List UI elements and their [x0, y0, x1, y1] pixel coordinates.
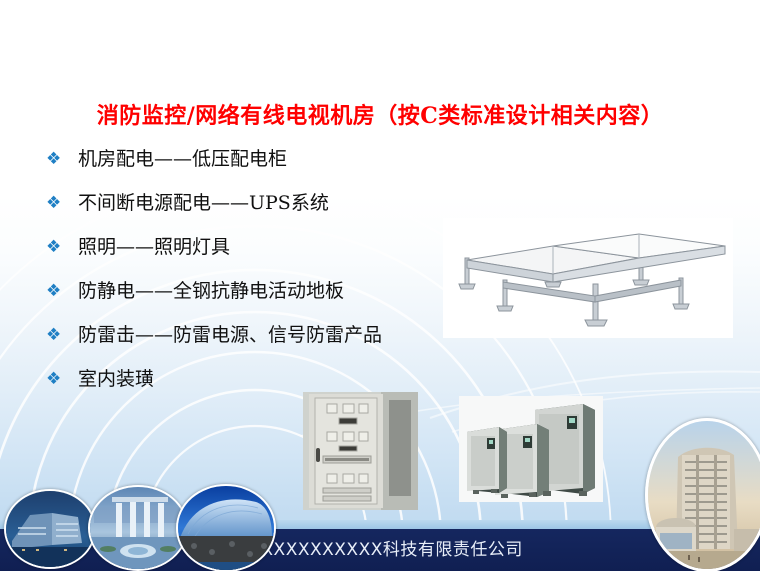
low-voltage-distribution-cabinet-photo — [303, 392, 418, 510]
diamond-bullet-icon: ❖ — [46, 364, 78, 394]
slide-title-text: 消防监控/网络有线电视机房（按C类标准设计相关内容） — [97, 103, 664, 129]
ups-cabinets-photo — [459, 396, 603, 502]
list-item-label: 防雷击——防雷电源、信号防雷产品 — [78, 320, 382, 350]
list-item-label: 照明——照明灯具 — [78, 232, 230, 262]
slide-title: 消防监控/网络有线电视机房（按C类标准设计相关内容） — [0, 98, 760, 130]
diamond-bullet-icon: ❖ — [46, 144, 78, 174]
list-item: ❖ 室内装璜 — [46, 364, 516, 408]
high-rise-hotel-thumbnail — [645, 418, 760, 571]
list-item-label: 室内装璜 — [78, 364, 154, 394]
modern-office-building-thumbnail — [4, 489, 96, 569]
diamond-bullet-icon: ❖ — [46, 276, 78, 306]
list-item: ❖ 机房配电——低压配电柜 — [46, 144, 516, 188]
domed-stadium-thumbnail — [176, 484, 276, 571]
raised-access-floor-photo — [443, 218, 733, 338]
list-item-label: 不间断电源配电——UPS系统 — [78, 188, 329, 218]
diamond-bullet-icon: ❖ — [46, 188, 78, 218]
slide-canvas: 消防监控/网络有线电视机房（按C类标准设计相关内容） ❖ 机房配电——低压配电柜… — [0, 0, 760, 571]
list-item-label: 机房配电——低压配电柜 — [78, 144, 287, 174]
list-item-label: 防静电——全钢抗静电活动地板 — [78, 276, 344, 306]
diamond-bullet-icon: ❖ — [46, 320, 78, 350]
diamond-bullet-icon: ❖ — [46, 232, 78, 262]
plaza-with-columns-thumbnail — [88, 485, 188, 571]
